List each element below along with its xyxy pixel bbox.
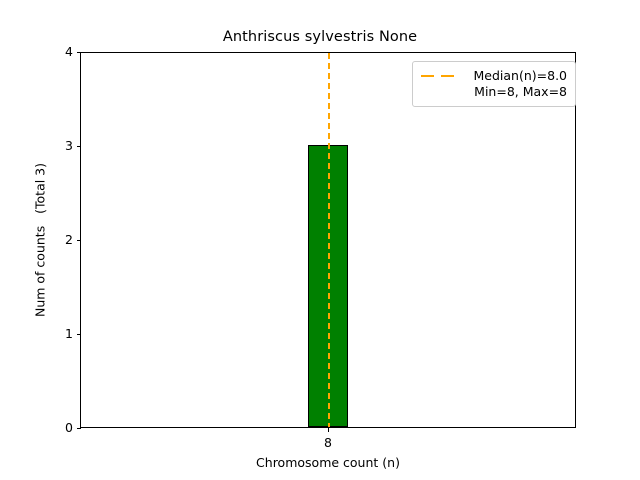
figure-canvas: Anthriscus sylvestris None 0 1 2 3 4 8 bbox=[0, 0, 640, 480]
legend-text-block: Median(n)=8.0 Min=8, Max=8 bbox=[468, 68, 567, 100]
ytick-mark-1 bbox=[77, 334, 82, 335]
ytick-mark-2 bbox=[77, 240, 82, 241]
plot-area bbox=[81, 53, 575, 427]
x-axis-label: Chromosome count (n) bbox=[80, 455, 576, 470]
legend[interactable]: Median(n)=8.0 Min=8, Max=8 bbox=[412, 61, 576, 107]
plot-axes: 0 1 2 3 4 8 Median(n)=8.0 Min=8, Max=8 bbox=[80, 52, 576, 428]
ytick-label-2: 2 bbox=[33, 232, 73, 247]
median-line bbox=[328, 53, 330, 427]
xtick-label-8: 8 bbox=[308, 435, 348, 450]
ytick-mark-3 bbox=[77, 146, 82, 147]
xtick-mark-8 bbox=[328, 427, 329, 432]
legend-label-minmax: Min=8, Max=8 bbox=[468, 84, 567, 100]
page-title: Anthriscus sylvestris None bbox=[0, 29, 640, 45]
ytick-mark-4 bbox=[77, 52, 82, 53]
ytick-label-4: 4 bbox=[33, 44, 73, 59]
legend-median-swatch bbox=[420, 68, 460, 85]
ytick-mark-0 bbox=[77, 428, 82, 429]
ytick-label-3: 3 bbox=[33, 138, 73, 153]
ytick-label-1: 1 bbox=[33, 326, 73, 341]
legend-label-median: Median(n)=8.0 bbox=[468, 68, 567, 84]
ytick-label-0: 0 bbox=[33, 420, 73, 435]
